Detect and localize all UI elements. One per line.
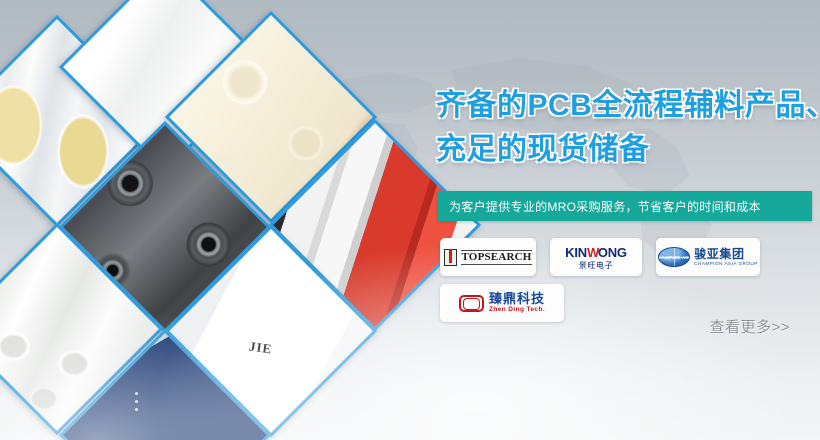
kinwong-subtitle: 景旺电子 [579,262,613,270]
champion-asia-name-en: CHAMPION ASIA GROUP [694,262,758,267]
champion-asia-globe-icon: CHAMPION ASIA [658,247,690,267]
champion-asia-globe-text: CHAMPION ASIA [658,255,690,260]
zhen-ding-emblem-icon [459,295,484,312]
view-more-link[interactable]: 查看更多>> [709,316,790,337]
logo-topsearch[interactable]: TOPSEARCH [440,238,536,276]
champion-asia-name-cn: 骏亚集团 [694,248,758,260]
zhen-ding-name-cn: 臻鼎科技 [489,292,545,305]
logo-zhen-ding[interactable]: 臻鼎科技 Zhen Ding Tech. [440,284,564,322]
logo-champion-asia[interactable]: CHAMPION ASIA 骏亚集团 CHAMPION ASIA GROUP [656,238,760,276]
jie-label: JIE [248,338,273,357]
banner-headline: 齐备的PCB全流程辅料产品、 充足的现货储备 [436,84,820,172]
promo-banner: JIE 齐备的PCB全流程辅料产品、 充足的现货储备 为客户提供专业的MRO采购… [0,0,820,440]
kinwong-word-part-3: ONG [598,245,627,260]
zhen-ding-name-en: Zhen Ding Tech. [489,307,545,314]
kinwong-word-part-2: W [587,245,598,260]
kinwong-word-part-1: KIN [565,245,587,260]
banner-content: 齐备的PCB全流程辅料产品、 充足的现货储备 为客户提供专业的MRO采购服务，节… [430,0,820,440]
headline-line-1: 齐备的PCB全流程辅料产品、 [436,89,820,122]
topsearch-wordmark: TOPSEARCH [461,250,531,265]
headline-line-2: 充足的现货储备 [436,128,820,172]
banner-subtitle-text: 为客户提供专业的MRO采购服务，节省客户的时间和成本 [438,198,761,215]
topsearch-mark-icon [444,249,457,266]
panel-dots-icon [130,387,138,411]
logo-row-1: TOPSEARCH KIN W ONG 景旺电子 [440,238,820,276]
product-image-collage: JIE [0,0,420,440]
kinwong-wordmark: KIN W ONG [565,245,627,260]
banner-subtitle-bar: 为客户提供专业的MRO采购服务，节省客户的时间和成本 [438,191,812,221]
logo-kinwong[interactable]: KIN W ONG 景旺电子 [550,238,642,276]
